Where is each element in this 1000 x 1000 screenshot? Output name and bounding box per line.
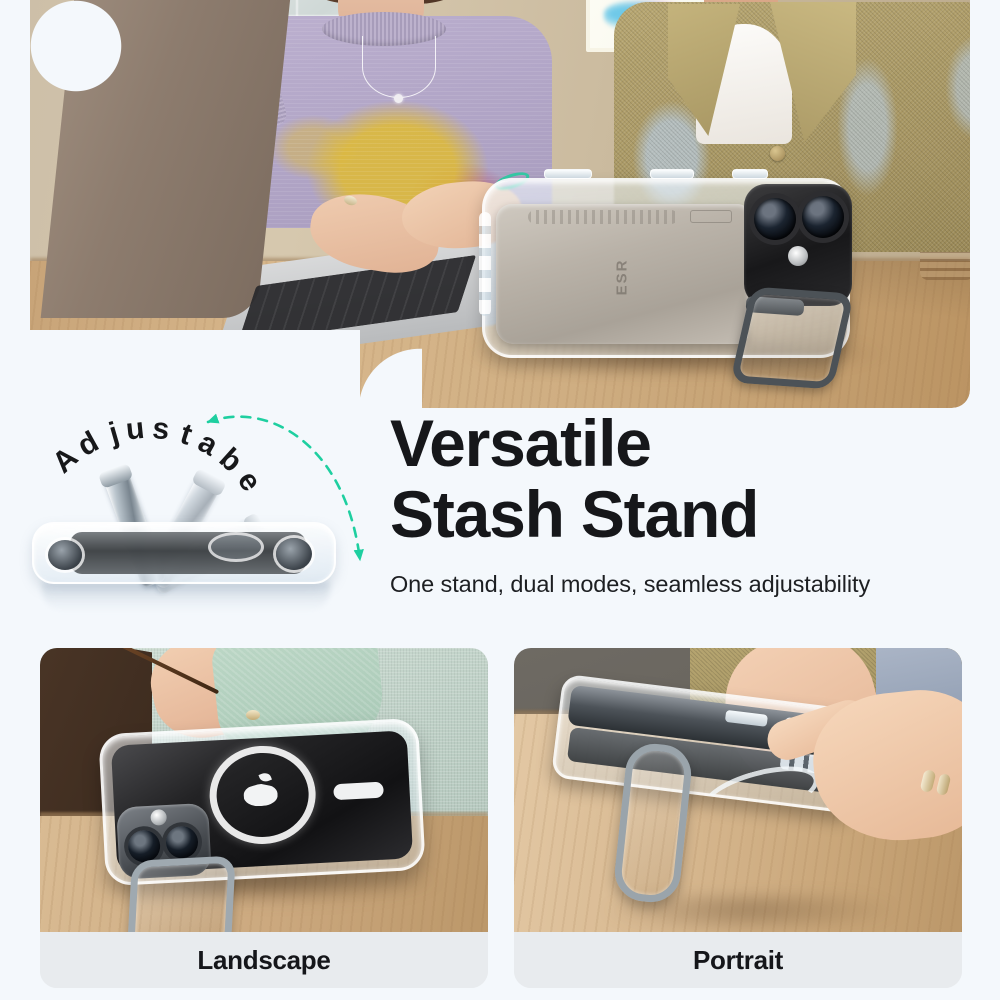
landscape-photo [40,648,488,934]
card-landscape[interactable]: Landscape [40,648,488,988]
adjustable-stand-illustration: A d j u s t a b e [24,386,354,616]
title-line-2: Stash Stand [390,477,758,551]
power-bank-spec-text [528,210,678,224]
hero-panel-notch [30,330,360,410]
landscape-caption-label: Landscape [197,945,330,976]
arc-char: t [176,417,196,452]
portrait-caption: Portrait [514,932,962,988]
landscape-caption: Landscape [40,932,488,988]
power-bank-certification-mark [690,210,732,223]
portrait-caption-label: Portrait [693,945,783,976]
card-portrait[interactable]: Portrait [514,648,962,988]
portrait-photo [514,648,962,934]
camera-lens-1 [754,198,796,240]
hero-panel-notch-corner [30,330,60,354]
hero-phone-with-power-bank: ESR [482,178,850,358]
esr-logo: ESR [614,258,631,295]
title-line-1: Versatile [390,406,651,480]
landscape-camera-lens-1 [127,829,161,863]
landscape-camera-flash [150,809,167,826]
arc-char: u [124,412,146,448]
camera-flash [788,246,808,266]
mode-cards-row: Landscape [0,648,1000,990]
arc-char: j [105,416,122,451]
landscape-phone [98,718,426,887]
case-button-top-3 [732,169,768,179]
apple-logo-icon [243,775,279,807]
illustration-camera-lens-left [48,540,82,570]
magnetic-power-bank: ESR [496,204,748,344]
adjustable-curved-label: A d j u s t a b e [78,392,218,572]
product-feature-page: ESR [0,0,1000,1000]
case-label-pill [333,782,384,801]
headline-block: Versatile Stash Stand One stand, dual mo… [390,408,986,598]
landscape-camera-lens-2 [165,825,199,859]
landscape-kickstand-ring [127,855,236,934]
landscape-finger-ring [246,710,260,720]
case-button-top-1 [544,169,592,179]
case-side-buttons [479,212,491,316]
illustration-reflection [42,582,330,612]
phone-camera-module [744,184,852,306]
camera-lens-2 [802,196,844,238]
necklace-pendant [394,94,403,103]
page-subtitle: One stand, dual modes, seamless adjustab… [390,571,986,598]
case-button-top-2 [650,169,694,179]
necklace-chain [362,36,436,98]
laptop-lid [41,0,292,318]
page-title: Versatile Stash Stand [390,408,986,551]
cardigan-button [770,146,785,161]
arc-char: s [151,412,171,448]
